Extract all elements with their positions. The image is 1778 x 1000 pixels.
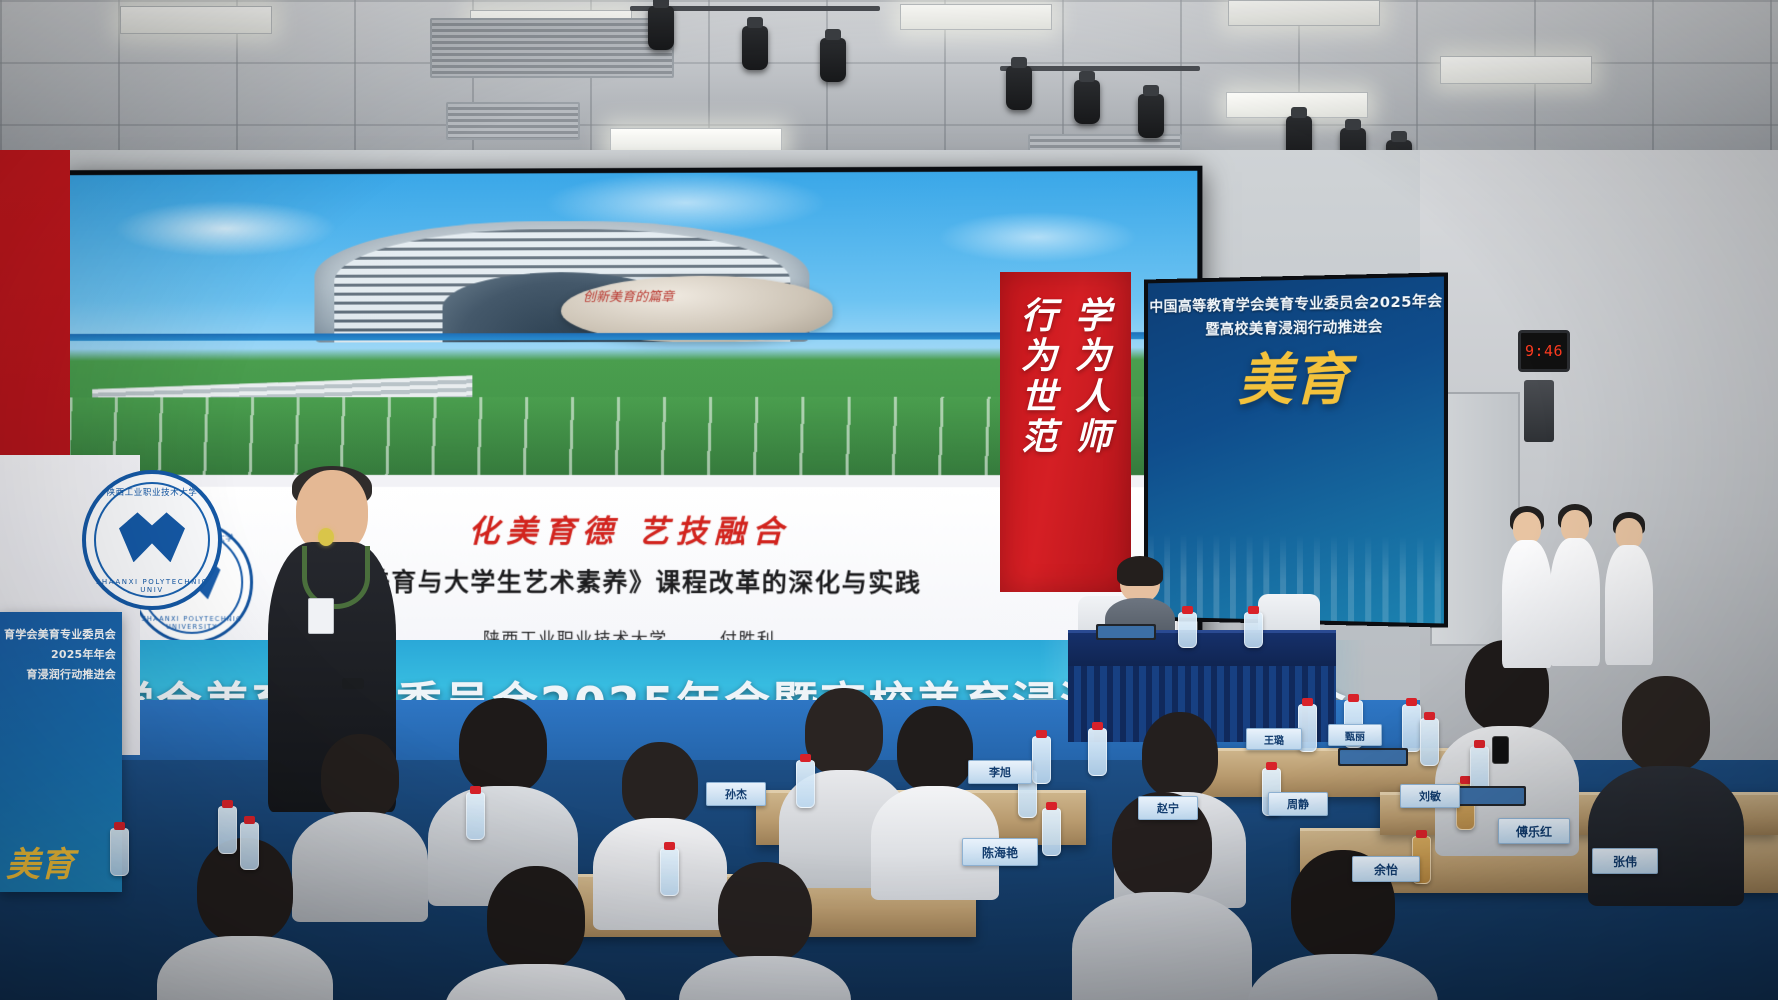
name-placard: 赵宁 xyxy=(1138,796,1198,820)
torso xyxy=(1588,766,1744,906)
water-bottle xyxy=(1402,704,1421,752)
banner-column-right: 学为人师 xyxy=(1067,296,1119,457)
stone-inscription: 创新美育的篇章 xyxy=(583,289,811,327)
microphone-icon xyxy=(318,528,334,546)
torso xyxy=(1550,538,1600,666)
name-placard: 陈海艳 xyxy=(962,838,1038,866)
water-bottle xyxy=(1178,612,1197,648)
laptop-screen xyxy=(1098,626,1154,638)
water-bottle xyxy=(660,848,679,896)
banner-column-left: 行为世范 xyxy=(1013,296,1065,457)
wall-speaker xyxy=(1524,380,1554,442)
name-placard: 孙杰 xyxy=(706,782,766,806)
water-bottle xyxy=(1420,718,1439,766)
head xyxy=(718,862,812,962)
torso xyxy=(1605,545,1653,665)
left-info-board: 育学会美育专业委员会 2025年年会 育浸润行动推进会 美育 xyxy=(0,612,122,892)
name-placard: 王璐 xyxy=(1246,728,1302,750)
left-board-emblem-icon: 美育 xyxy=(6,837,74,886)
meiyu-emblem-icon: 美育 xyxy=(1238,351,1349,408)
water-bottle xyxy=(240,822,259,870)
name-placard: 周静 xyxy=(1268,792,1328,816)
stage-spotlight xyxy=(1074,80,1100,124)
torso xyxy=(1502,540,1552,668)
conference-hall-photo: 9:46 创新美育的篇章 陕西工业职业技术大学 xyxy=(0,0,1778,1000)
name-placard: 甄丽 xyxy=(1328,724,1382,746)
name-placard: 余怡 xyxy=(1352,856,1420,882)
logo-text-bottom: SHAANXI POLYTECHNIC UNIV xyxy=(86,578,218,594)
left-board-line3: 育浸润行动推进会 xyxy=(0,666,122,682)
head xyxy=(622,742,698,826)
torso xyxy=(1248,954,1438,1000)
left-university-logo: 陕西工业职业技术大学 SHAANXI POLYTECHNIC UNIV xyxy=(82,470,222,610)
torso xyxy=(445,964,627,1000)
digital-clock: 9:46 xyxy=(1518,330,1570,372)
name-placard: 刘敏 xyxy=(1400,784,1460,808)
name-placard: 张伟 xyxy=(1592,848,1658,874)
wristwatch xyxy=(342,678,364,689)
side-banner-line2: 暨高校美育浸润行动推进会 xyxy=(1148,314,1444,340)
audience-member xyxy=(690,862,840,1000)
stage-spotlight xyxy=(1006,66,1032,110)
ceiling-light-panel xyxy=(900,4,1052,30)
clock-time: 9:46 xyxy=(1525,342,1563,360)
water-bottle xyxy=(218,806,237,854)
torso xyxy=(157,936,333,1000)
head xyxy=(459,698,547,794)
standing-usher xyxy=(1600,512,1658,672)
logo-text-top: 陕西工业职业技术大学 xyxy=(86,486,218,498)
water-bottle xyxy=(796,760,815,808)
head xyxy=(321,734,399,820)
ceiling-light-panel xyxy=(120,6,272,34)
left-board-line2: 2025年年会 xyxy=(0,646,122,662)
laptop-screen xyxy=(1340,750,1406,764)
head xyxy=(1142,712,1218,798)
water-bottle xyxy=(110,828,129,876)
head xyxy=(897,706,973,792)
side-banner-line1: 中国高等教育学会美育专业委员会2025年会 xyxy=(1148,290,1444,317)
stage-spotlight xyxy=(742,26,768,70)
head xyxy=(1622,676,1710,772)
standing-usher xyxy=(1546,504,1604,674)
water-bottle xyxy=(466,792,485,840)
laptop[interactable] xyxy=(1338,748,1408,766)
red-calligraphy-banner: 学为人师 行为世范 xyxy=(1000,272,1131,592)
stage-spotlight xyxy=(820,38,846,82)
audience-member xyxy=(1082,792,1242,1000)
laptop[interactable] xyxy=(1096,624,1156,640)
water-bottle xyxy=(1042,808,1061,856)
water-bottle xyxy=(1032,736,1051,784)
smartphone[interactable] xyxy=(1492,736,1509,764)
water-bottle xyxy=(1244,612,1263,648)
name-badge xyxy=(308,598,334,634)
name-placard: 李旭 xyxy=(968,760,1032,784)
audience-member xyxy=(456,866,616,1000)
hair xyxy=(1117,556,1163,586)
ceiling-air-vent xyxy=(446,102,580,140)
head xyxy=(487,866,585,970)
left-board-line1: 育学会美育专业委员会 xyxy=(0,626,122,642)
ceiling-air-vent xyxy=(430,18,674,78)
ceiling-light-panel xyxy=(1440,56,1592,84)
stage-spotlight xyxy=(1138,94,1164,138)
ceiling-light-panel xyxy=(1228,0,1380,26)
side-led-banner: 中国高等教育学会美育专业委员会2025年会 暨高校美育浸润行动推进会 美育 xyxy=(1144,272,1448,627)
torso xyxy=(679,956,851,1000)
head xyxy=(805,688,883,776)
audience-member xyxy=(438,698,568,888)
name-placard: 傅乐红 xyxy=(1498,818,1570,844)
stage-spotlight xyxy=(648,6,674,50)
torso xyxy=(1072,892,1252,1000)
water-bottle xyxy=(1088,728,1107,776)
